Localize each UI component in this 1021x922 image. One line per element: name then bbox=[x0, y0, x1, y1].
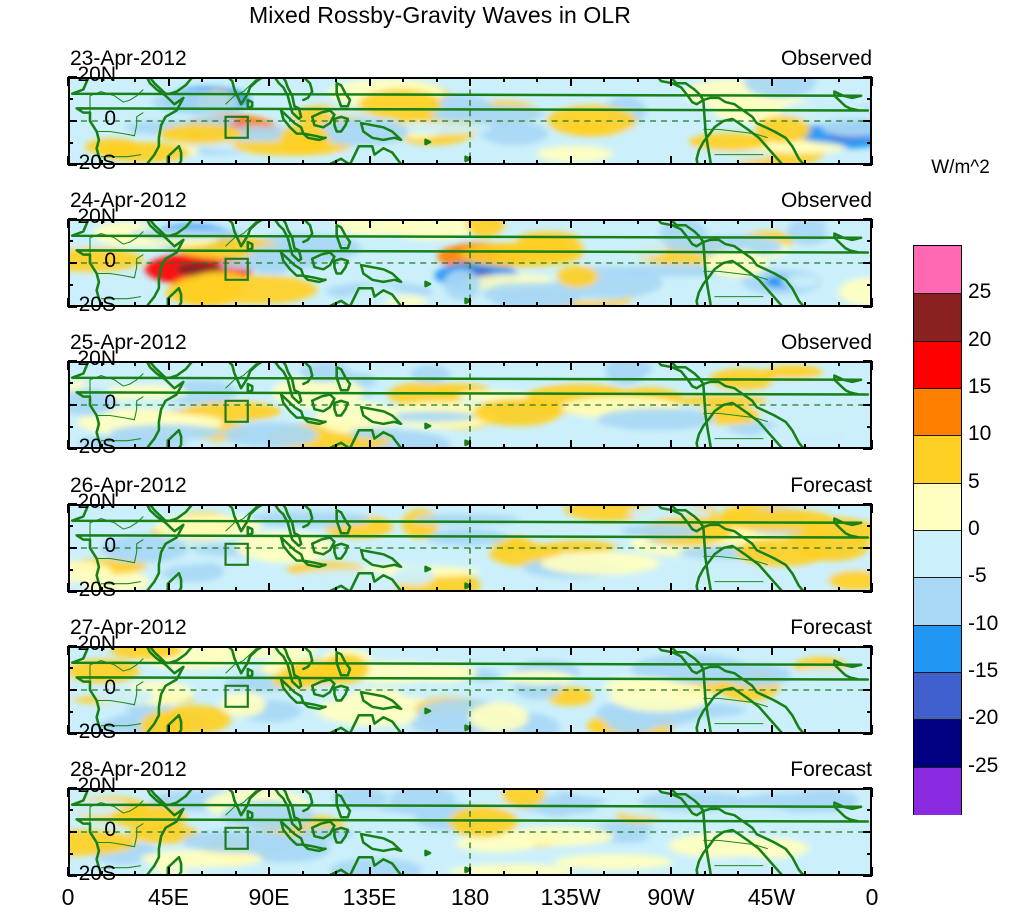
x-tick bbox=[670, 361, 672, 370]
x-tick bbox=[804, 302, 806, 307]
x-tick bbox=[168, 725, 170, 734]
x-tick bbox=[436, 219, 438, 224]
x-tick bbox=[469, 156, 471, 165]
x-tick bbox=[637, 444, 639, 449]
x-tick bbox=[268, 440, 270, 449]
y-axis-tick-label: 20N bbox=[0, 347, 116, 371]
olr-anomaly-map bbox=[68, 788, 872, 876]
x-tick bbox=[804, 729, 806, 734]
y-axis-tick-label: 0 bbox=[0, 249, 116, 273]
x-tick bbox=[369, 504, 371, 513]
y-tick bbox=[863, 547, 872, 549]
x-tick bbox=[771, 583, 773, 592]
x-tick bbox=[469, 77, 471, 86]
x-tick bbox=[335, 729, 337, 734]
x-tick bbox=[670, 646, 672, 655]
x-tick bbox=[536, 444, 538, 449]
y-tick bbox=[68, 853, 73, 855]
x-tick bbox=[503, 646, 505, 651]
map-surface bbox=[70, 790, 870, 874]
x-tick bbox=[235, 788, 237, 793]
x-tick bbox=[436, 729, 438, 734]
olr-anomaly-map bbox=[68, 646, 872, 734]
x-tick bbox=[168, 298, 170, 307]
y-tick bbox=[863, 645, 872, 647]
x-tick bbox=[603, 729, 605, 734]
x-tick bbox=[603, 788, 605, 793]
x-tick bbox=[737, 871, 739, 876]
x-tick bbox=[302, 219, 304, 224]
x-tick bbox=[804, 361, 806, 366]
x-tick bbox=[402, 788, 404, 793]
x-tick bbox=[335, 219, 337, 224]
x-tick bbox=[603, 587, 605, 592]
x-axis: 045E90E135E180135W90W45W0 bbox=[68, 884, 872, 918]
x-tick bbox=[771, 725, 773, 734]
x-tick bbox=[302, 361, 304, 366]
y-tick bbox=[863, 218, 872, 220]
x-axis-tick-label: 90W bbox=[647, 884, 694, 911]
x-axis-tick-label: 90E bbox=[249, 884, 290, 911]
x-tick bbox=[603, 646, 605, 651]
x-tick bbox=[302, 788, 304, 793]
y-axis-tick-label: 20N bbox=[0, 63, 116, 87]
x-tick bbox=[469, 788, 471, 797]
y-tick bbox=[863, 164, 872, 166]
x-tick bbox=[134, 302, 136, 307]
x-tick bbox=[369, 298, 371, 307]
x-tick bbox=[838, 646, 840, 651]
x-tick bbox=[469, 583, 471, 592]
y-tick bbox=[68, 569, 73, 571]
x-tick bbox=[235, 219, 237, 224]
x-tick bbox=[670, 77, 672, 86]
x-tick bbox=[637, 646, 639, 651]
y-tick bbox=[68, 525, 73, 527]
y-tick bbox=[863, 875, 872, 877]
x-tick bbox=[838, 361, 840, 366]
x-tick bbox=[134, 77, 136, 82]
x-tick bbox=[704, 587, 706, 592]
x-tick bbox=[737, 444, 739, 449]
y-tick bbox=[867, 382, 872, 384]
x-tick bbox=[536, 160, 538, 165]
x-tick bbox=[804, 788, 806, 793]
map-surface bbox=[70, 648, 870, 732]
x-tick bbox=[704, 646, 706, 651]
x-tick bbox=[335, 646, 337, 651]
x-tick bbox=[469, 867, 471, 876]
y-tick bbox=[867, 240, 872, 242]
x-tick bbox=[268, 504, 270, 513]
x-tick bbox=[469, 646, 471, 655]
x-tick bbox=[436, 302, 438, 307]
x-tick bbox=[737, 504, 739, 509]
x-tick bbox=[235, 871, 237, 876]
x-tick bbox=[201, 302, 203, 307]
colorbar-band bbox=[914, 341, 961, 389]
x-tick bbox=[436, 788, 438, 793]
panel-kind-label: Observed bbox=[781, 47, 872, 71]
x-tick bbox=[402, 361, 404, 366]
x-tick bbox=[436, 504, 438, 509]
y-tick bbox=[867, 142, 872, 144]
x-tick bbox=[838, 219, 840, 224]
x-tick bbox=[871, 219, 873, 228]
x-tick bbox=[369, 867, 371, 876]
y-tick bbox=[863, 831, 872, 833]
map-panel: 28-Apr-2012Forecast bbox=[68, 788, 872, 876]
x-tick bbox=[804, 77, 806, 82]
map-surface bbox=[70, 221, 870, 305]
x-tick bbox=[302, 729, 304, 734]
x-tick bbox=[570, 156, 572, 165]
colorbar-band bbox=[914, 388, 961, 436]
colorbar bbox=[913, 245, 962, 815]
x-tick bbox=[570, 867, 572, 876]
x-tick bbox=[737, 219, 739, 224]
x-tick bbox=[637, 871, 639, 876]
x-tick bbox=[637, 729, 639, 734]
x-tick bbox=[670, 156, 672, 165]
colorbar-tick-label: 25 bbox=[968, 280, 991, 304]
y-tick bbox=[863, 689, 872, 691]
x-tick bbox=[503, 302, 505, 307]
x-tick bbox=[335, 788, 337, 793]
x-tick bbox=[134, 160, 136, 165]
x-tick bbox=[201, 646, 203, 651]
x-tick bbox=[302, 302, 304, 307]
x-tick bbox=[771, 440, 773, 449]
x-tick bbox=[369, 583, 371, 592]
x-tick bbox=[335, 504, 337, 509]
x-tick bbox=[235, 587, 237, 592]
x-tick bbox=[704, 361, 706, 366]
x-tick bbox=[771, 156, 773, 165]
y-tick bbox=[68, 809, 73, 811]
colorbar-tick-label: -20 bbox=[968, 706, 998, 730]
x-tick bbox=[570, 361, 572, 370]
x-tick bbox=[201, 219, 203, 224]
x-tick bbox=[737, 729, 739, 734]
x-tick bbox=[804, 587, 806, 592]
x-tick bbox=[436, 871, 438, 876]
x-tick bbox=[771, 788, 773, 797]
x-tick bbox=[201, 871, 203, 876]
y-tick bbox=[867, 525, 872, 527]
x-tick bbox=[369, 725, 371, 734]
map-surface bbox=[70, 506, 870, 590]
x-tick bbox=[201, 160, 203, 165]
x-tick bbox=[804, 444, 806, 449]
x-tick bbox=[134, 504, 136, 509]
x-tick bbox=[235, 729, 237, 734]
y-tick bbox=[68, 98, 73, 100]
x-tick bbox=[771, 77, 773, 86]
colorbar-tick-label: -10 bbox=[968, 612, 998, 636]
colorbar-unit-label: W/m^2 bbox=[900, 157, 1021, 179]
x-tick bbox=[838, 160, 840, 165]
x-tick bbox=[704, 302, 706, 307]
x-tick bbox=[603, 871, 605, 876]
colorbar-tick-label: 10 bbox=[968, 422, 991, 446]
x-tick bbox=[134, 361, 136, 366]
x-tick bbox=[402, 160, 404, 165]
y-tick bbox=[68, 142, 73, 144]
x-tick bbox=[335, 361, 337, 366]
x-tick bbox=[201, 444, 203, 449]
x-tick bbox=[670, 788, 672, 797]
x-tick bbox=[402, 444, 404, 449]
map-panel: 24-Apr-2012Observed bbox=[68, 219, 872, 307]
y-tick bbox=[863, 262, 872, 264]
y-tick bbox=[68, 426, 73, 428]
x-tick bbox=[838, 729, 840, 734]
x-tick bbox=[570, 788, 572, 797]
x-tick bbox=[168, 156, 170, 165]
map-panel: 26-Apr-2012Forecast bbox=[68, 504, 872, 592]
x-tick bbox=[771, 361, 773, 370]
x-tick bbox=[637, 160, 639, 165]
y-tick bbox=[867, 98, 872, 100]
x-tick bbox=[804, 871, 806, 876]
panel-kind-label: Forecast bbox=[790, 758, 872, 782]
x-tick bbox=[838, 788, 840, 793]
x-tick bbox=[804, 219, 806, 224]
y-axis-tick-label: 20N bbox=[0, 205, 116, 229]
x-tick bbox=[402, 871, 404, 876]
x-tick bbox=[134, 219, 136, 224]
olr-anomaly-map bbox=[68, 219, 872, 307]
x-tick bbox=[469, 725, 471, 734]
x-tick bbox=[704, 871, 706, 876]
x-tick bbox=[804, 504, 806, 509]
x-axis-tick-label: 135W bbox=[540, 884, 600, 911]
x-tick bbox=[771, 867, 773, 876]
x-tick bbox=[469, 504, 471, 513]
x-tick bbox=[503, 729, 505, 734]
x-tick bbox=[570, 77, 572, 86]
x-tick bbox=[838, 504, 840, 509]
x-tick bbox=[302, 444, 304, 449]
colorbar-tick-label: -25 bbox=[968, 754, 998, 778]
x-tick bbox=[603, 160, 605, 165]
x-tick bbox=[168, 504, 170, 513]
y-axis-tick-label: 0 bbox=[0, 534, 116, 558]
x-tick bbox=[637, 77, 639, 82]
x-tick bbox=[670, 440, 672, 449]
y-tick bbox=[68, 382, 73, 384]
map-panel: 23-Apr-2012Observed bbox=[68, 77, 872, 165]
x-tick bbox=[469, 361, 471, 370]
x-tick bbox=[871, 504, 873, 513]
x-tick bbox=[235, 302, 237, 307]
x-tick bbox=[704, 219, 706, 224]
x-tick bbox=[369, 219, 371, 228]
x-tick bbox=[536, 729, 538, 734]
x-tick bbox=[168, 867, 170, 876]
x-tick bbox=[369, 788, 371, 797]
x-tick bbox=[168, 440, 170, 449]
x-tick bbox=[235, 504, 237, 509]
x-tick bbox=[637, 788, 639, 793]
x-tick bbox=[201, 504, 203, 509]
x-tick bbox=[402, 646, 404, 651]
y-axis-tick-label: 20N bbox=[0, 490, 116, 514]
x-tick bbox=[570, 583, 572, 592]
y-tick bbox=[867, 853, 872, 855]
colorbar-band bbox=[914, 672, 961, 720]
y-tick bbox=[863, 360, 872, 362]
x-axis-tick-label: 45E bbox=[148, 884, 189, 911]
x-tick bbox=[603, 444, 605, 449]
y-tick bbox=[867, 284, 872, 286]
x-tick bbox=[771, 646, 773, 655]
x-tick bbox=[670, 583, 672, 592]
x-tick bbox=[838, 444, 840, 449]
y-axis-tick-label: 0 bbox=[0, 391, 116, 415]
x-tick bbox=[302, 646, 304, 651]
x-tick bbox=[704, 444, 706, 449]
x-tick bbox=[335, 160, 337, 165]
x-tick bbox=[838, 871, 840, 876]
colorbar-tick-label: -5 bbox=[968, 564, 987, 588]
x-tick bbox=[637, 504, 639, 509]
x-tick bbox=[335, 302, 337, 307]
x-tick bbox=[168, 219, 170, 228]
y-axis-tick-label: 0 bbox=[0, 676, 116, 700]
colorbar-band bbox=[914, 767, 961, 815]
y-tick bbox=[867, 667, 872, 669]
x-tick bbox=[570, 440, 572, 449]
x-tick bbox=[503, 160, 505, 165]
x-tick bbox=[369, 440, 371, 449]
x-tick bbox=[570, 646, 572, 655]
y-axis-tick-label: 20S bbox=[0, 862, 116, 886]
y-tick bbox=[68, 284, 73, 286]
map-surface bbox=[70, 363, 870, 447]
colorbar-band bbox=[914, 719, 961, 767]
x-tick bbox=[268, 219, 270, 228]
x-tick bbox=[737, 302, 739, 307]
x-tick bbox=[268, 156, 270, 165]
panel-kind-label: Forecast bbox=[790, 616, 872, 640]
olr-anomaly-map bbox=[68, 361, 872, 449]
x-tick bbox=[268, 361, 270, 370]
page-title: Mixed Rossby-Gravity Waves in OLR bbox=[0, 2, 880, 29]
y-tick bbox=[863, 591, 872, 593]
x-tick bbox=[536, 77, 538, 82]
x-tick bbox=[804, 160, 806, 165]
x-tick bbox=[570, 219, 572, 228]
x-tick bbox=[436, 160, 438, 165]
x-tick bbox=[637, 587, 639, 592]
y-axis-tick-label: 20N bbox=[0, 774, 116, 798]
x-tick bbox=[536, 788, 538, 793]
colorbar-tick-label: 20 bbox=[968, 328, 991, 352]
y-tick bbox=[863, 76, 872, 78]
x-tick bbox=[436, 587, 438, 592]
x-tick bbox=[838, 587, 840, 592]
x-tick bbox=[603, 504, 605, 509]
y-axis-tick-label: 0 bbox=[0, 107, 116, 131]
x-tick bbox=[134, 871, 136, 876]
x-tick bbox=[235, 361, 237, 366]
x-tick bbox=[503, 77, 505, 82]
colorbar-tick-label: 5 bbox=[968, 470, 980, 494]
x-tick bbox=[235, 646, 237, 651]
x-tick bbox=[670, 504, 672, 513]
x-tick bbox=[268, 867, 270, 876]
x-tick bbox=[603, 361, 605, 366]
y-tick bbox=[863, 787, 872, 789]
x-tick bbox=[402, 219, 404, 224]
colorbar-tick-labels: 2520151050-5-10-15-20-25 bbox=[968, 245, 1021, 813]
y-tick bbox=[863, 448, 872, 450]
colorbar-band bbox=[914, 483, 961, 531]
x-tick bbox=[335, 77, 337, 82]
y-tick bbox=[68, 240, 73, 242]
x-tick bbox=[268, 725, 270, 734]
x-tick bbox=[570, 725, 572, 734]
x-tick bbox=[871, 788, 873, 797]
x-tick bbox=[670, 867, 672, 876]
y-axis-tick-label: 20S bbox=[0, 293, 116, 317]
map-panel: 25-Apr-2012Observed bbox=[68, 361, 872, 449]
x-tick bbox=[335, 444, 337, 449]
x-tick bbox=[737, 788, 739, 793]
x-tick bbox=[436, 646, 438, 651]
x-tick bbox=[235, 160, 237, 165]
colorbar-tick-label: 15 bbox=[968, 375, 991, 399]
x-tick bbox=[536, 587, 538, 592]
x-tick bbox=[335, 587, 337, 592]
x-tick bbox=[469, 440, 471, 449]
x-tick bbox=[503, 788, 505, 793]
x-tick bbox=[201, 788, 203, 793]
x-tick bbox=[134, 646, 136, 651]
x-tick bbox=[536, 361, 538, 366]
x-tick bbox=[503, 871, 505, 876]
x-tick bbox=[436, 361, 438, 366]
y-tick bbox=[867, 711, 872, 713]
x-tick bbox=[670, 725, 672, 734]
x-tick bbox=[771, 219, 773, 228]
colorbar-band bbox=[914, 246, 961, 293]
colorbar-band bbox=[914, 625, 961, 673]
x-tick bbox=[369, 361, 371, 370]
x-tick bbox=[302, 160, 304, 165]
x-axis-tick-label: 0 bbox=[62, 884, 75, 911]
x-tick bbox=[168, 583, 170, 592]
x-tick bbox=[670, 219, 672, 228]
olr-anomaly-map bbox=[68, 504, 872, 592]
x-tick bbox=[637, 361, 639, 366]
x-tick bbox=[503, 219, 505, 224]
x-tick bbox=[603, 219, 605, 224]
x-tick bbox=[838, 77, 840, 82]
x-tick bbox=[201, 77, 203, 82]
x-tick bbox=[436, 77, 438, 82]
x-tick bbox=[302, 871, 304, 876]
x-tick bbox=[469, 219, 471, 228]
y-tick bbox=[867, 569, 872, 571]
map-panel: 27-Apr-2012Forecast bbox=[68, 646, 872, 734]
x-tick bbox=[268, 788, 270, 797]
x-tick bbox=[603, 302, 605, 307]
x-tick bbox=[536, 504, 538, 509]
x-tick bbox=[771, 298, 773, 307]
